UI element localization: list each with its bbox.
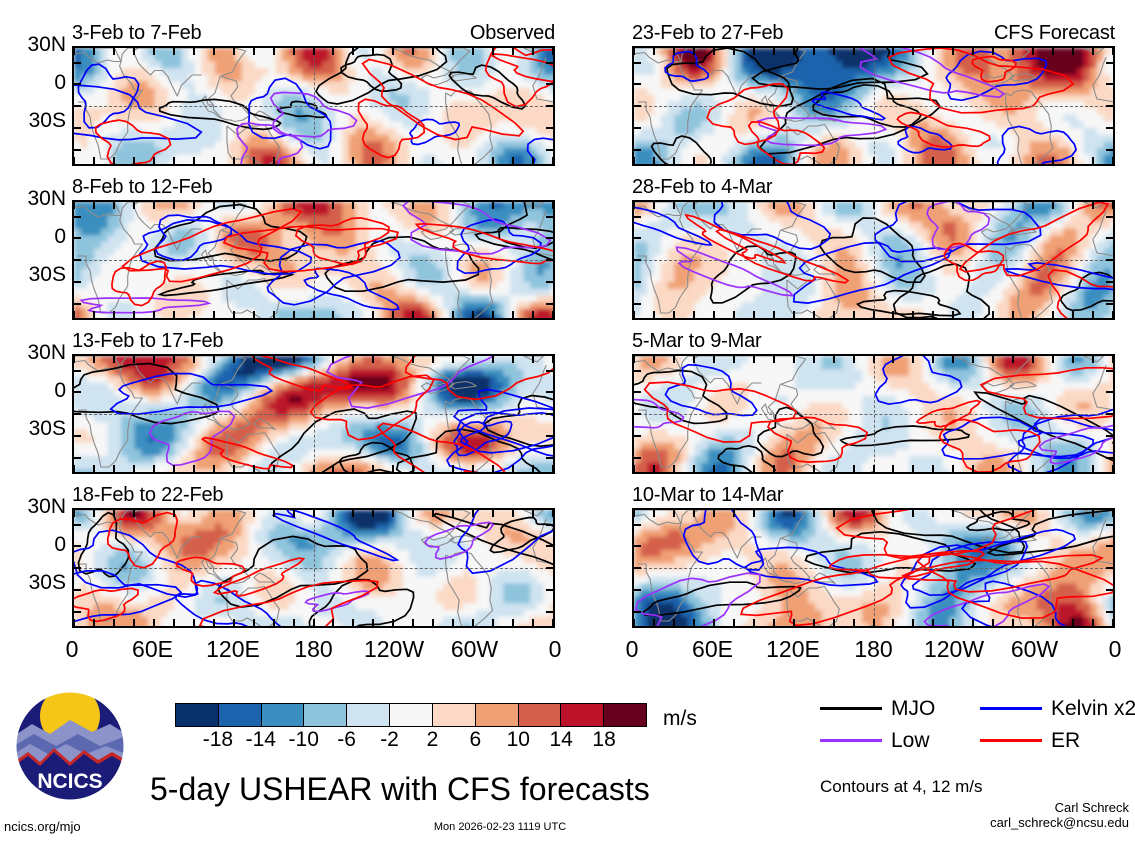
x-tick bbox=[532, 48, 534, 55]
y-tick bbox=[74, 127, 81, 129]
x-tick bbox=[412, 465, 414, 472]
x-tick bbox=[1052, 48, 1054, 55]
x-tick bbox=[253, 510, 255, 517]
x-tick bbox=[273, 202, 275, 209]
x-axis-labels-right: 0 60E 120E 180 120W 60W 0 bbox=[632, 638, 1115, 664]
x-tick bbox=[773, 202, 775, 209]
x-tick bbox=[793, 619, 795, 626]
x-tick bbox=[733, 157, 735, 164]
x-tick bbox=[313, 619, 315, 626]
x-tick bbox=[93, 48, 95, 55]
x-tick bbox=[93, 356, 95, 363]
colorbar-segment-9 bbox=[561, 704, 604, 726]
panel-3-feb-to-7-feb: 3-Feb to 7-FebObserved bbox=[72, 24, 555, 166]
x-tick bbox=[452, 465, 454, 472]
x-tick bbox=[432, 48, 434, 55]
x-tick bbox=[932, 48, 934, 55]
x-tick bbox=[412, 311, 414, 318]
x-tick bbox=[313, 311, 315, 318]
x-tick bbox=[753, 48, 755, 55]
x-tick bbox=[1072, 356, 1074, 363]
x-tick bbox=[992, 356, 994, 363]
y-tick bbox=[634, 589, 641, 591]
x-tick bbox=[213, 619, 215, 626]
y-tick bbox=[546, 281, 553, 283]
x-tick bbox=[753, 311, 755, 318]
x-tick bbox=[512, 356, 514, 363]
x-tick bbox=[793, 510, 795, 517]
ncics-logo: NCICS bbox=[14, 690, 126, 802]
x-tick bbox=[853, 619, 855, 626]
x-tick bbox=[492, 465, 494, 472]
x-tick bbox=[713, 356, 715, 363]
x-tick bbox=[293, 202, 295, 209]
y-tick bbox=[74, 370, 81, 372]
y-tick bbox=[634, 524, 641, 526]
x-tick bbox=[653, 619, 655, 626]
x-tick bbox=[153, 510, 155, 517]
x-tick bbox=[113, 48, 115, 55]
colorbar-tick-neg10: -10 bbox=[289, 729, 319, 750]
y-tick bbox=[634, 413, 641, 415]
y-tick bbox=[634, 567, 641, 569]
panel-grid: 3-Feb to 7-FebObserved8-Feb to 12-Feb13-… bbox=[0, 0, 1135, 680]
dateline bbox=[874, 510, 875, 626]
site-url[interactable]: ncics.org/mjo bbox=[4, 820, 81, 833]
y-axis-labels-row2: 30N 0 30S bbox=[0, 332, 66, 452]
y-tick bbox=[1106, 259, 1113, 261]
y-tick bbox=[1106, 567, 1113, 569]
x-tick bbox=[113, 202, 115, 209]
x-tick bbox=[273, 356, 275, 363]
x-tick bbox=[352, 619, 354, 626]
x-tick bbox=[1112, 356, 1114, 363]
x-tick bbox=[153, 311, 155, 318]
x-tick bbox=[1052, 356, 1054, 363]
x-tick bbox=[552, 157, 554, 164]
x-tick bbox=[912, 356, 914, 363]
x-tick bbox=[73, 48, 75, 55]
x-tick bbox=[892, 356, 894, 363]
x-tick bbox=[532, 157, 534, 164]
y-tick bbox=[634, 127, 641, 129]
panel-title: 10-Mar to 14-Mar bbox=[632, 485, 783, 505]
x-tick bbox=[813, 311, 815, 318]
y-tick-label-0: 0 bbox=[54, 72, 66, 93]
dateline bbox=[314, 48, 315, 164]
x-tick bbox=[653, 202, 655, 209]
x-tick bbox=[1112, 510, 1114, 517]
y-tick bbox=[546, 611, 553, 613]
y-axis-labels-row0: 30N 0 30S bbox=[0, 24, 66, 144]
colorbar-segment-6 bbox=[433, 704, 476, 726]
x-tick bbox=[932, 356, 934, 363]
x-tick bbox=[1032, 356, 1034, 363]
x-tick bbox=[173, 202, 175, 209]
x-tick-label-120w: 120W bbox=[364, 638, 424, 661]
x-tick bbox=[193, 510, 195, 517]
y-tick bbox=[74, 391, 81, 393]
y-tick bbox=[74, 524, 81, 526]
y-tick-label-30n: 30N bbox=[27, 34, 66, 55]
x-tick bbox=[372, 510, 374, 517]
x-tick bbox=[1052, 157, 1054, 164]
x-tick-label-60e: 60E bbox=[692, 638, 733, 661]
colorbar-segment-10 bbox=[604, 704, 646, 726]
x-tick bbox=[372, 311, 374, 318]
x-tick bbox=[673, 356, 675, 363]
x-tick bbox=[372, 157, 374, 164]
x-axis-labels-left: 0 60E 120E 180 120W 60W 0 bbox=[72, 638, 555, 664]
y-tick bbox=[546, 589, 553, 591]
x-tick bbox=[653, 311, 655, 318]
x-tick bbox=[813, 48, 815, 55]
x-tick bbox=[853, 48, 855, 55]
y-tick bbox=[634, 435, 641, 437]
x-tick bbox=[512, 48, 514, 55]
y-tick bbox=[1106, 589, 1113, 591]
colorbar-segment-3 bbox=[304, 704, 347, 726]
y-tick bbox=[74, 303, 81, 305]
colorbar-tick-10: 10 bbox=[507, 729, 530, 750]
y-tick bbox=[546, 105, 553, 107]
y-tick bbox=[546, 216, 553, 218]
x-tick bbox=[633, 356, 635, 363]
x-tick bbox=[633, 510, 635, 517]
y-tick bbox=[546, 545, 553, 547]
x-tick-label-120w: 120W bbox=[924, 638, 984, 661]
colorbar-unit-label: m/s bbox=[663, 708, 697, 729]
author-email[interactable]: carl_schreck@ncsu.edu bbox=[990, 815, 1129, 830]
x-tick bbox=[412, 202, 414, 209]
y-tick-label-30n: 30N bbox=[27, 342, 66, 363]
x-tick bbox=[952, 48, 954, 55]
x-tick bbox=[452, 48, 454, 55]
colorbar-segment-4 bbox=[347, 704, 390, 726]
x-tick bbox=[332, 157, 334, 164]
x-tick bbox=[853, 465, 855, 472]
x-tick bbox=[1092, 510, 1094, 517]
x-tick bbox=[352, 465, 354, 472]
x-tick bbox=[892, 619, 894, 626]
map-field bbox=[634, 510, 1115, 628]
x-tick bbox=[293, 619, 295, 626]
x-tick bbox=[733, 356, 735, 363]
x-tick bbox=[1112, 311, 1114, 318]
map-box bbox=[632, 200, 1115, 320]
x-tick bbox=[452, 619, 454, 626]
x-tick bbox=[892, 202, 894, 209]
x-tick bbox=[892, 157, 894, 164]
dateline bbox=[874, 202, 875, 318]
y-tick bbox=[1106, 62, 1113, 64]
y-tick bbox=[634, 83, 641, 85]
x-tick bbox=[1092, 465, 1094, 472]
y-tick-label-30s: 30S bbox=[29, 418, 66, 439]
dateline bbox=[314, 510, 315, 626]
x-tick bbox=[773, 465, 775, 472]
x-tick bbox=[452, 202, 454, 209]
x-tick bbox=[193, 619, 195, 626]
x-tick-label-180: 180 bbox=[294, 638, 332, 661]
x-tick bbox=[133, 202, 135, 209]
x-tick bbox=[1112, 465, 1114, 472]
x-tick bbox=[332, 311, 334, 318]
x-tick bbox=[693, 356, 695, 363]
legend-item-mjo: MJO bbox=[820, 692, 935, 724]
y-tick bbox=[546, 62, 553, 64]
x-tick bbox=[733, 48, 735, 55]
contour-note: Contours at 4, 12 m/s bbox=[820, 778, 983, 795]
y-tick bbox=[1106, 303, 1113, 305]
kelvin-line-icon bbox=[980, 707, 1042, 710]
x-tick bbox=[892, 465, 894, 472]
x-tick-label-360: 0 bbox=[549, 638, 562, 661]
colorbar-segment-8 bbox=[519, 704, 562, 726]
x-tick bbox=[932, 157, 934, 164]
dateline bbox=[314, 356, 315, 472]
x-tick bbox=[773, 311, 775, 318]
x-tick bbox=[93, 510, 95, 517]
x-tick bbox=[532, 356, 534, 363]
x-tick bbox=[1012, 202, 1014, 209]
x-tick-label-0: 0 bbox=[66, 638, 79, 661]
panel-28-feb-to-4-mar: 28-Feb to 4-Mar bbox=[632, 178, 1115, 320]
x-tick bbox=[372, 48, 374, 55]
x-tick bbox=[552, 465, 554, 472]
y-tick bbox=[1106, 149, 1113, 151]
x-tick bbox=[753, 510, 755, 517]
er-line-icon bbox=[980, 739, 1042, 742]
x-tick bbox=[372, 465, 374, 472]
x-tick bbox=[1012, 465, 1014, 472]
x-tick bbox=[352, 510, 354, 517]
y-tick bbox=[74, 589, 81, 591]
x-tick bbox=[1032, 48, 1034, 55]
x-tick bbox=[392, 311, 394, 318]
x-tick bbox=[492, 356, 494, 363]
x-tick bbox=[412, 356, 414, 363]
x-tick bbox=[1032, 157, 1034, 164]
x-tick bbox=[233, 510, 235, 517]
x-tick bbox=[813, 202, 815, 209]
x-tick bbox=[432, 510, 434, 517]
x-tick bbox=[713, 202, 715, 209]
legend-label-mjo: MJO bbox=[891, 698, 935, 719]
panel-title: 8-Feb to 12-Feb bbox=[72, 177, 212, 197]
x-tick bbox=[693, 510, 695, 517]
x-tick bbox=[352, 202, 354, 209]
x-tick bbox=[293, 510, 295, 517]
x-tick bbox=[332, 48, 334, 55]
x-tick bbox=[93, 157, 95, 164]
colorbar: -18-14-10-6-226101418 bbox=[175, 703, 647, 753]
x-tick bbox=[412, 510, 414, 517]
y-tick bbox=[634, 259, 641, 261]
map-field bbox=[634, 202, 1115, 320]
x-tick bbox=[472, 202, 474, 209]
x-tick bbox=[1092, 311, 1094, 318]
x-tick bbox=[313, 48, 315, 55]
x-tick bbox=[833, 157, 835, 164]
x-tick bbox=[552, 510, 554, 517]
x-tick bbox=[173, 356, 175, 363]
y-tick-label-0: 0 bbox=[54, 534, 66, 555]
x-tick bbox=[833, 311, 835, 318]
x-tick bbox=[1112, 157, 1114, 164]
x-tick bbox=[512, 619, 514, 626]
x-tick bbox=[512, 311, 514, 318]
x-tick bbox=[972, 510, 974, 517]
x-tick bbox=[173, 311, 175, 318]
x-tick bbox=[293, 48, 295, 55]
legend-label-low: Low bbox=[891, 730, 930, 751]
y-tick bbox=[74, 435, 81, 437]
x-tick bbox=[213, 356, 215, 363]
x-tick bbox=[733, 510, 735, 517]
colorbar-tick-2: 2 bbox=[427, 729, 439, 750]
y-tick-label-30n: 30N bbox=[27, 188, 66, 209]
x-tick bbox=[532, 311, 534, 318]
y-tick bbox=[74, 281, 81, 283]
colorbar-segment-5 bbox=[390, 704, 433, 726]
x-tick bbox=[313, 465, 315, 472]
x-tick-label-60w: 60W bbox=[451, 638, 498, 661]
x-tick bbox=[1032, 510, 1034, 517]
x-tick bbox=[833, 48, 835, 55]
x-tick bbox=[1072, 619, 1074, 626]
x-tick bbox=[1052, 202, 1054, 209]
x-tick bbox=[73, 510, 75, 517]
x-tick bbox=[873, 311, 875, 318]
x-tick bbox=[992, 465, 994, 472]
panel-title: 23-Feb to 27-Feb bbox=[632, 23, 783, 43]
x-tick bbox=[873, 157, 875, 164]
x-tick bbox=[332, 465, 334, 472]
map-box bbox=[632, 508, 1115, 628]
x-tick bbox=[313, 202, 315, 209]
x-tick bbox=[73, 619, 75, 626]
x-tick bbox=[412, 48, 414, 55]
column-header-right: CFS Forecast bbox=[994, 23, 1115, 43]
map-field bbox=[74, 202, 555, 320]
y-tick bbox=[546, 303, 553, 305]
x-tick bbox=[873, 619, 875, 626]
contour-legend: MJO Kelvin x2 Low ER bbox=[820, 692, 1130, 756]
x-tick bbox=[633, 48, 635, 55]
x-tick bbox=[1092, 157, 1094, 164]
x-tick bbox=[1052, 619, 1054, 626]
x-tick bbox=[633, 465, 635, 472]
x-tick bbox=[853, 311, 855, 318]
y-tick bbox=[546, 435, 553, 437]
legend-label-er: ER bbox=[1051, 730, 1080, 751]
x-tick bbox=[753, 202, 755, 209]
y-tick bbox=[1106, 83, 1113, 85]
x-tick bbox=[1012, 311, 1014, 318]
x-tick bbox=[912, 311, 914, 318]
y-tick bbox=[74, 413, 81, 415]
x-tick bbox=[552, 619, 554, 626]
x-tick bbox=[213, 157, 215, 164]
x-tick bbox=[133, 48, 135, 55]
x-tick bbox=[93, 202, 95, 209]
x-tick bbox=[673, 202, 675, 209]
x-tick-label-0: 0 bbox=[626, 638, 639, 661]
x-tick bbox=[552, 48, 554, 55]
x-tick bbox=[1052, 311, 1054, 318]
legend-label-kelvin: Kelvin x2 bbox=[1051, 698, 1135, 719]
y-tick bbox=[1106, 457, 1113, 459]
x-tick bbox=[633, 619, 635, 626]
x-tick bbox=[952, 465, 954, 472]
x-tick bbox=[472, 510, 474, 517]
y-tick bbox=[634, 457, 641, 459]
x-tick bbox=[213, 465, 215, 472]
x-tick bbox=[73, 157, 75, 164]
y-tick bbox=[1106, 127, 1113, 129]
x-tick bbox=[392, 48, 394, 55]
x-tick bbox=[753, 157, 755, 164]
panel-8-feb-to-12-feb: 8-Feb to 12-Feb bbox=[72, 178, 555, 320]
y-tick bbox=[1106, 370, 1113, 372]
x-tick bbox=[253, 311, 255, 318]
x-tick bbox=[492, 510, 494, 517]
x-tick bbox=[1112, 202, 1114, 209]
panel-title: 5-Mar to 9-Mar bbox=[632, 331, 761, 351]
x-tick bbox=[653, 510, 655, 517]
y-tick bbox=[74, 237, 81, 239]
x-tick bbox=[1092, 356, 1094, 363]
x-tick bbox=[273, 510, 275, 517]
x-tick bbox=[233, 202, 235, 209]
y-tick bbox=[634, 370, 641, 372]
x-tick bbox=[633, 202, 635, 209]
y-tick bbox=[634, 105, 641, 107]
x-tick bbox=[73, 465, 75, 472]
x-tick bbox=[992, 202, 994, 209]
x-tick bbox=[93, 465, 95, 472]
x-tick bbox=[873, 465, 875, 472]
x-tick bbox=[912, 619, 914, 626]
x-tick bbox=[412, 619, 414, 626]
x-tick bbox=[392, 356, 394, 363]
x-tick-label-60w: 60W bbox=[1011, 638, 1058, 661]
x-tick bbox=[793, 356, 795, 363]
x-tick bbox=[713, 510, 715, 517]
x-tick bbox=[492, 202, 494, 209]
y-tick bbox=[74, 83, 81, 85]
x-tick bbox=[932, 619, 934, 626]
x-tick bbox=[773, 619, 775, 626]
x-tick bbox=[332, 202, 334, 209]
x-tick bbox=[352, 356, 354, 363]
x-tick bbox=[833, 202, 835, 209]
dateline bbox=[874, 48, 875, 164]
x-tick bbox=[73, 202, 75, 209]
panel-23-feb-to-27-feb: 23-Feb to 27-FebCFS Forecast bbox=[632, 24, 1115, 166]
x-tick bbox=[273, 465, 275, 472]
y-tick bbox=[634, 62, 641, 64]
x-tick bbox=[972, 157, 974, 164]
x-tick bbox=[213, 202, 215, 209]
colorbar-tick-14: 14 bbox=[549, 729, 572, 750]
x-tick bbox=[853, 202, 855, 209]
x-tick bbox=[113, 619, 115, 626]
y-tick-label-30s: 30S bbox=[29, 110, 66, 131]
panel-title: 18-Feb to 22-Feb bbox=[72, 485, 223, 505]
x-tick bbox=[273, 157, 275, 164]
